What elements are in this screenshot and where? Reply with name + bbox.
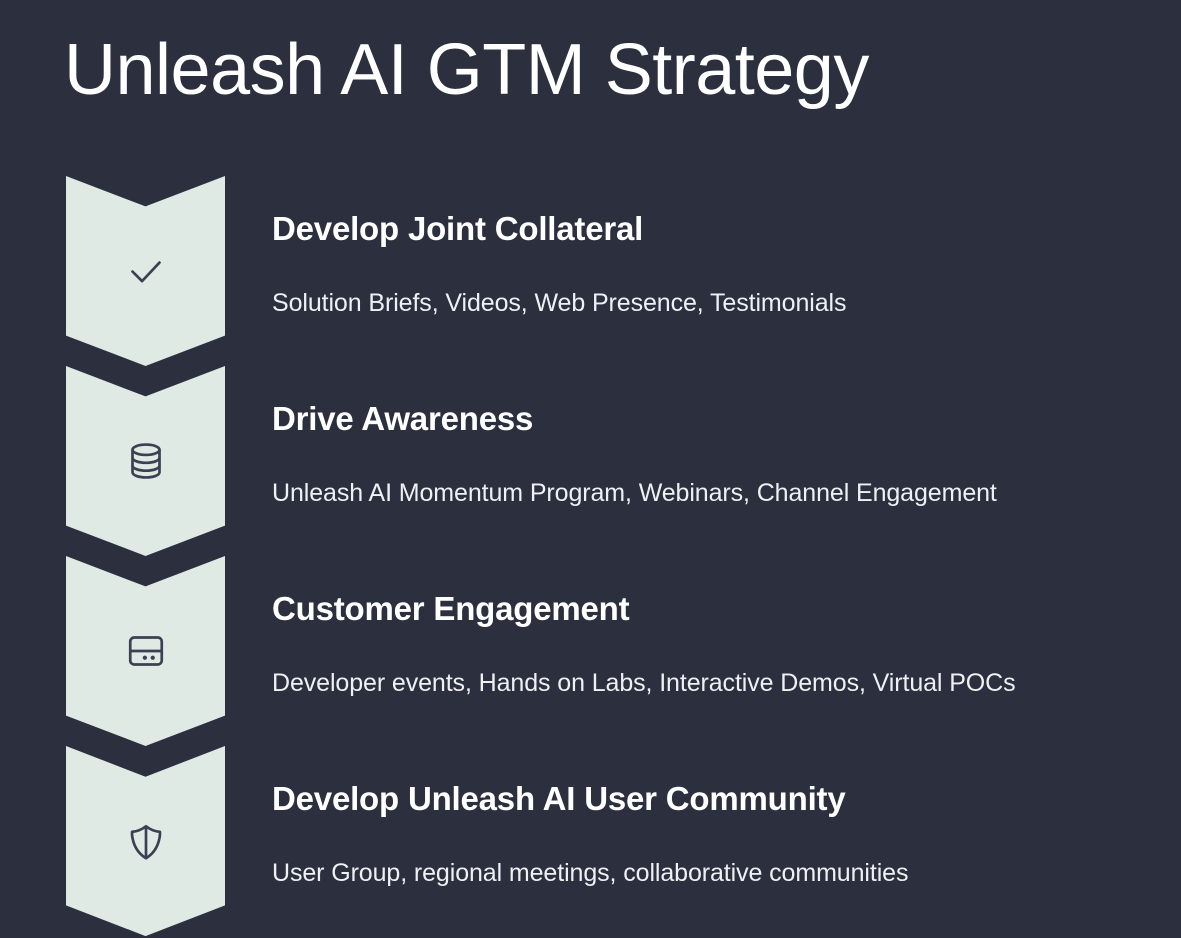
- step-text-row: Develop Unleash AI User Community User G…: [272, 746, 1162, 936]
- step-subtext: Solution Briefs, Videos, Web Presence, T…: [272, 289, 846, 318]
- slide-canvas: Unleash AI GTM Strategy: [0, 0, 1181, 938]
- chevron-step-4[interactable]: [66, 746, 225, 938]
- step-heading: Drive Awareness: [272, 400, 533, 438]
- chevron-step-3[interactable]: [66, 556, 225, 746]
- step-subtext: User Group, regional meetings, collabora…: [272, 859, 908, 888]
- chevron-shape: [66, 746, 225, 938]
- chevron-shape: [66, 366, 225, 556]
- chevron-step-2[interactable]: [66, 366, 225, 556]
- chevron-shape: [66, 176, 225, 366]
- step-subtext: Unleash AI Momentum Program, Webinars, C…: [272, 479, 997, 508]
- step-text-row: Drive Awareness Unleash AI Momentum Prog…: [272, 366, 1162, 556]
- chevron-shape: [66, 556, 225, 746]
- step-subtext: Developer events, Hands on Labs, Interac…: [272, 669, 1016, 698]
- page-title: Unleash AI GTM Strategy: [64, 32, 869, 110]
- chevron-step-1[interactable]: [66, 176, 225, 366]
- step-heading: Develop Joint Collateral: [272, 210, 643, 248]
- step-heading: Customer Engagement: [272, 590, 629, 628]
- chevron-step-column: [66, 176, 225, 938]
- step-text-row: Customer Engagement Developer events, Ha…: [272, 556, 1162, 746]
- step-heading: Develop Unleash AI User Community: [272, 780, 845, 818]
- step-text-row: Develop Joint Collateral Solution Briefs…: [272, 176, 1162, 366]
